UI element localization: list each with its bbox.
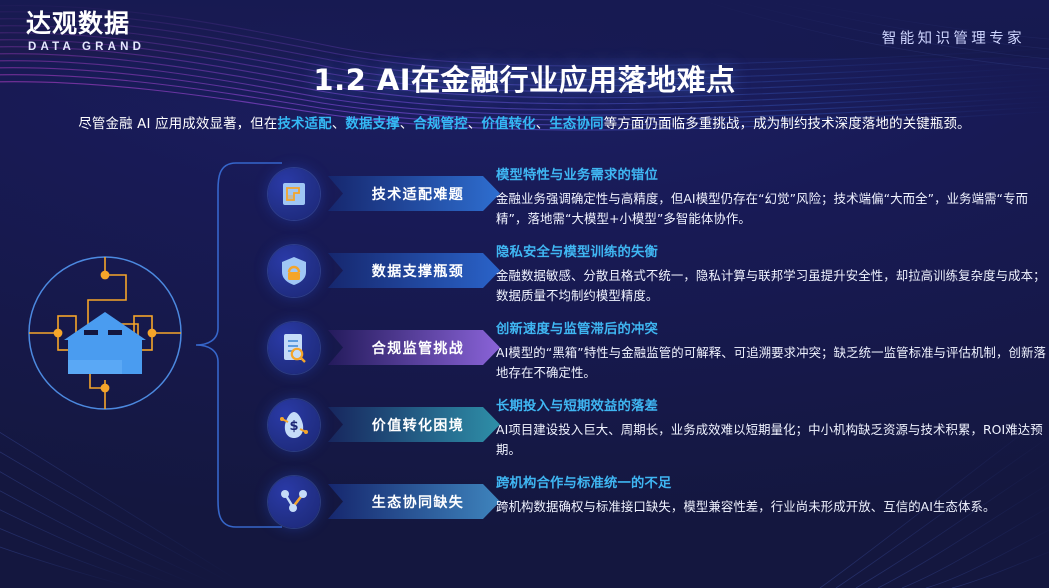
row-heading: 创新速度与监管滞后的冲突	[496, 318, 1049, 337]
chevron-banner[interactable]: 价值转化困境	[328, 407, 500, 442]
list-item[interactable]: 合规监管挑战 创新速度与监管滞后的冲突 AI模型的“黑箱”特性与金融监管的可解释…	[268, 314, 1049, 391]
subtitle-keyword: 数据支撑	[345, 117, 399, 132]
subtitle-text: 、	[468, 117, 482, 132]
row-label: 生态协同缺失	[364, 492, 464, 512]
list-item[interactable]: 技术适配难题 模型特性与业务需求的错位 金融业务强调确定性与高精度，但AI模型仍…	[268, 160, 1049, 237]
subtitle-keyword: 价值转化	[481, 117, 535, 132]
subtitle-text: 、	[536, 117, 550, 132]
slide-title: 1.2 AI在金融行业应用落地难点	[0, 57, 1049, 99]
network-nodes-icon	[268, 476, 320, 528]
slide-subtitle: 尽管金融 AI 应用成效显著，但在技术适配、数据支撑、合规管控、价值转化、生态协…	[0, 112, 1049, 132]
row-text: 跨机构合作与标准统一的不足 跨机构数据确权与标准接口缺失，模型兼容性差，行业尚未…	[496, 472, 1049, 517]
list-item[interactable]: 生态协同缺失 跨机构合作与标准统一的不足 跨机构数据确权与标准接口缺失，模型兼容…	[268, 468, 1049, 545]
row-heading: 长期投入与短期效益的落差	[496, 395, 1049, 414]
chevron-banner[interactable]: 生态协同缺失	[328, 484, 500, 519]
subtitle-text: 等方面仍面临多重挑战，成为制约技术深度落地的关键瓶颈。	[604, 117, 971, 132]
subtitle-keyword: 技术适配	[277, 117, 331, 132]
shield-lock-icon	[268, 245, 320, 297]
list-item[interactable]: 数据支撑瓶颈 隐私安全与模型训练的失衡 金融数据敏感、分散且格式不统一，隐私计算…	[268, 237, 1049, 314]
row-heading: 隐私安全与模型训练的失衡	[496, 241, 1049, 260]
row-text: 创新速度与监管滞后的冲突 AI模型的“黑箱”特性与金融监管的可解释、可追溯要求冲…	[496, 318, 1049, 383]
subtitle-text: 、	[400, 117, 414, 132]
row-label: 价值转化困境	[364, 415, 464, 435]
subtitle-keyword: 生态协同	[549, 117, 603, 132]
row-text: 长期投入与短期效益的落差 AI项目建设投入巨大、周期长，业务成效难以短期量化；中…	[496, 395, 1049, 460]
row-body: AI项目建设投入巨大、周期长，业务成效难以短期量化；中小机构缺乏资源与技术积累，…	[496, 420, 1049, 460]
chevron-banner[interactable]: 技术适配难题	[328, 176, 500, 211]
row-body: 跨机构数据确权与标准接口缺失，模型兼容性差，行业尚未形成开放、互信的AI生态体系…	[496, 497, 1049, 517]
brand-logo: 达观数据 DATA GRAND	[26, 10, 145, 53]
row-heading: 模型特性与业务需求的错位	[496, 164, 1049, 183]
row-text: 模型特性与业务需求的错位 金融业务强调确定性与高精度，但AI模型仍存在“幻觉”风…	[496, 164, 1049, 229]
row-body: 金融数据敏感、分散且格式不统一，隐私计算与联邦学习虽提升安全性，却拉高训练复杂度…	[496, 266, 1049, 306]
bank-circuit-emblem	[20, 248, 190, 418]
list-item[interactable]: $ 价值转化困境 长期投入与短期效益的落差 AI项目建设投入巨大、周期长，业务成…	[268, 391, 1049, 468]
document-window-icon	[268, 168, 320, 220]
chevron-banner[interactable]: 合规监管挑战	[328, 330, 500, 365]
difficulty-list: 技术适配难题 模型特性与业务需求的错位 金融业务强调确定性与高精度，但AI模型仍…	[268, 160, 1049, 545]
document-search-icon	[268, 322, 320, 374]
row-body: AI模型的“黑箱”特性与金融监管的可解释、可追溯要求冲突；缺乏统一监管标准与评估…	[496, 343, 1049, 383]
svg-text:$: $	[289, 419, 298, 434]
header-tagline: 智能知识管理专家	[882, 27, 1025, 48]
subtitle-text: 、	[332, 117, 346, 132]
row-label: 数据支撑瓶颈	[364, 261, 464, 281]
logo-chinese: 达观数据	[26, 10, 145, 38]
subtitle-text: 尽管金融 AI 应用成效显著，但在	[78, 117, 277, 132]
logo-english: DATA GRAND	[26, 41, 145, 53]
row-label: 技术适配难题	[364, 184, 464, 204]
subtitle-keyword: 合规管控	[413, 117, 467, 132]
chevron-banner[interactable]: 数据支撑瓶颈	[328, 253, 500, 288]
row-body: 金融业务强调确定性与高精度，但AI模型仍存在“幻觉”风险；技术端偏“大而全”，业…	[496, 189, 1049, 229]
money-bag-icon: $	[268, 399, 320, 451]
row-heading: 跨机构合作与标准统一的不足	[496, 472, 1049, 491]
row-label: 合规监管挑战	[364, 338, 464, 358]
row-text: 隐私安全与模型训练的失衡 金融数据敏感、分散且格式不统一，隐私计算与联邦学习虽提…	[496, 241, 1049, 306]
